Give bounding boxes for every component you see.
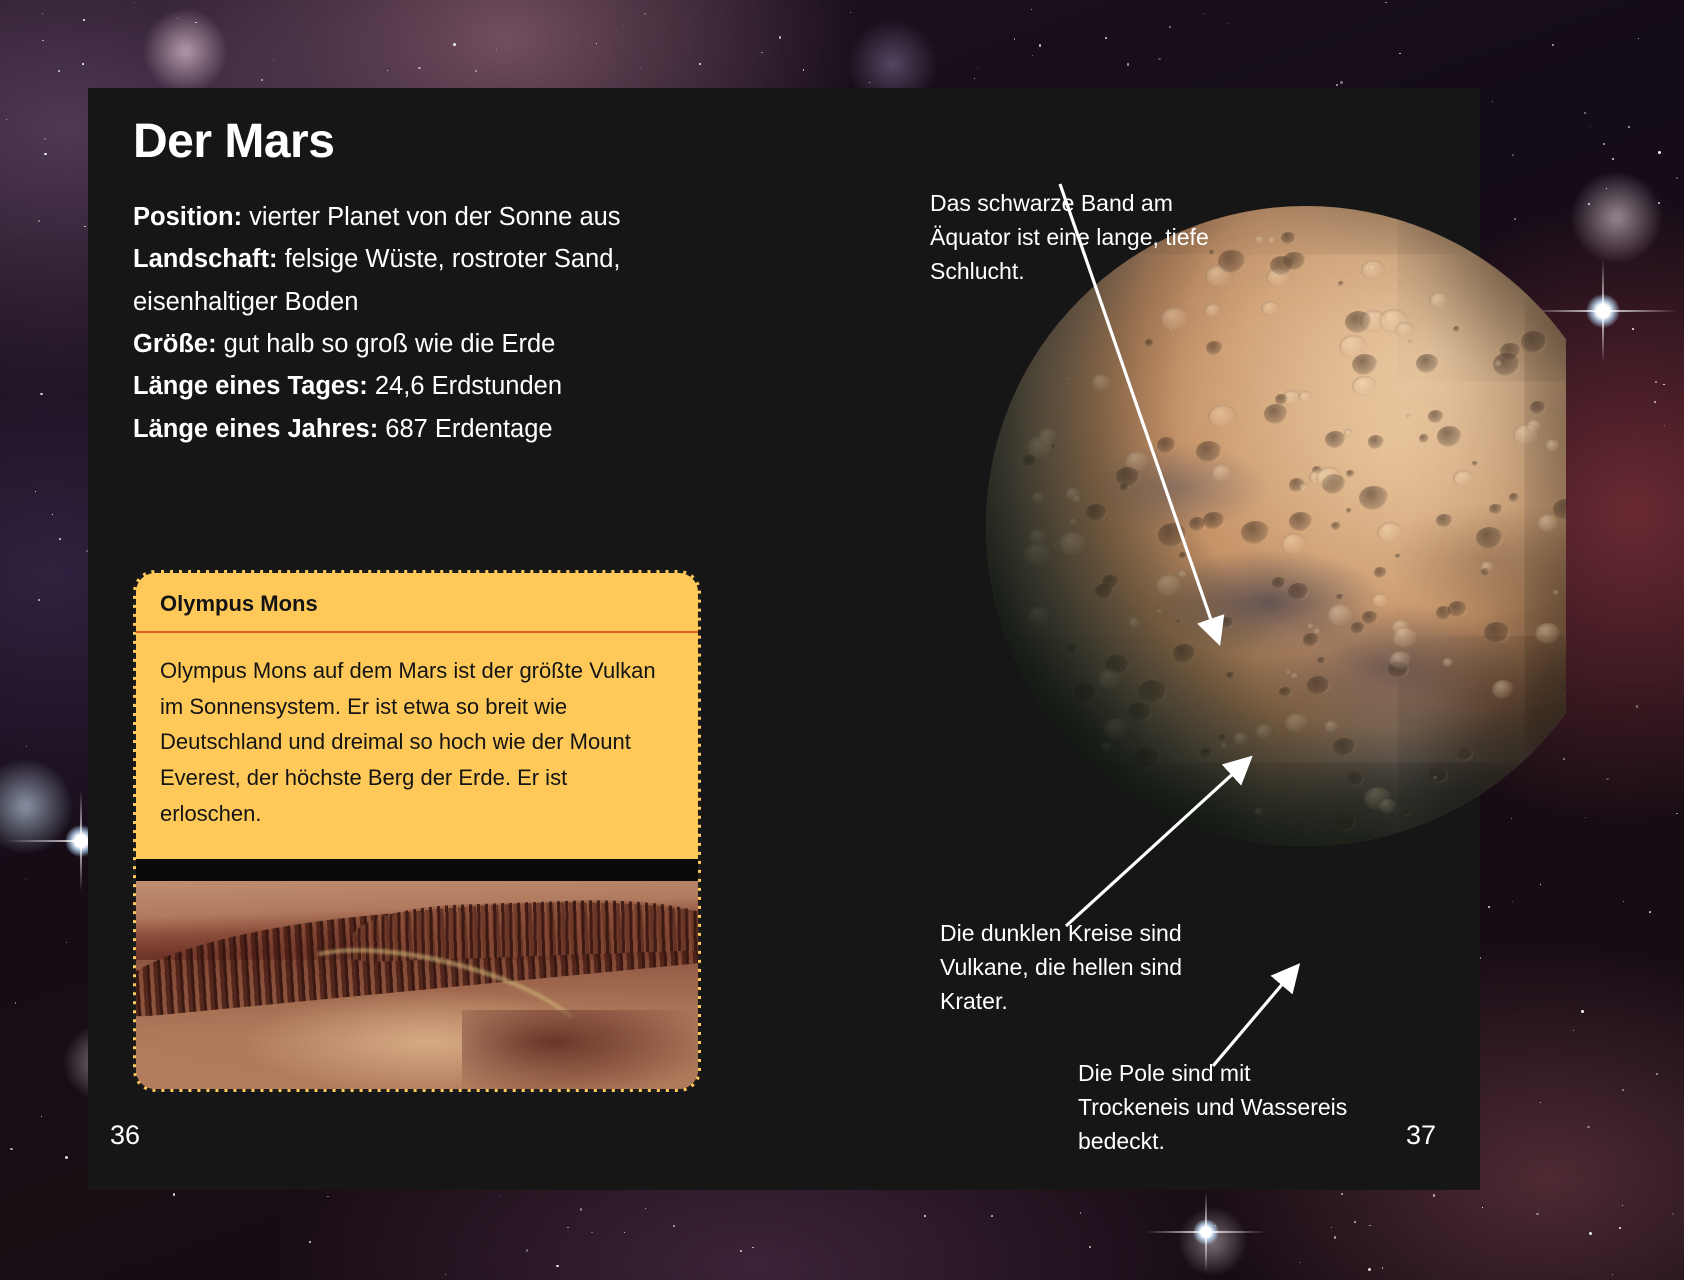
star [591, 1232, 592, 1233]
fact-row: Länge eines Jahres: 687 Erdentage [133, 408, 733, 450]
star [556, 1265, 559, 1268]
mars-limb-shadow [986, 206, 1566, 846]
star [1512, 154, 1514, 156]
star [1331, 1227, 1332, 1228]
callout-divider [136, 859, 698, 881]
star [1341, 1193, 1343, 1195]
fact-value: 24,6 Erdstunden [368, 372, 562, 400]
star [1585, 817, 1586, 818]
star [1590, 126, 1591, 127]
star [1039, 44, 1042, 47]
star [1581, 1010, 1584, 1013]
star [38, 220, 40, 222]
star [761, 52, 762, 53]
star [699, 63, 702, 66]
star [475, 70, 476, 71]
star [779, 36, 782, 39]
star [991, 1215, 993, 1217]
callout-heading: Olympus Mons [136, 573, 698, 633]
fact-row: Größe: gut halb so groß wie die Erde [133, 323, 733, 365]
star [974, 78, 975, 79]
olympus-mons-caldera-image [136, 881, 698, 1089]
star [1433, 1194, 1436, 1197]
star [623, 25, 624, 26]
star [44, 153, 47, 156]
star [1628, 126, 1630, 128]
star [1299, 1262, 1300, 1263]
annotation-poles: Die Pole sind mit Trockeneis und Wassere… [1078, 1056, 1348, 1158]
star [526, 1249, 529, 1252]
star [1654, 401, 1656, 403]
star [1636, 705, 1638, 707]
star [1368, 1268, 1371, 1271]
olympus-mons-callout: Olympus Mons Olympus Mons auf dem Mars i… [133, 570, 701, 1092]
star [1127, 63, 1129, 65]
star [10, 1149, 12, 1151]
star [1676, 177, 1678, 179]
star [1385, 2, 1387, 4]
star [42, 13, 43, 14]
star [1492, 101, 1493, 102]
star [496, 49, 497, 50]
star [977, 67, 978, 68]
star [1622, 1205, 1623, 1206]
star [1606, 188, 1607, 189]
fact-value: gut halb so groß wie die Erde [217, 330, 556, 358]
star [1656, 1073, 1658, 1075]
star [640, 68, 641, 69]
star [1603, 143, 1605, 145]
star [803, 69, 804, 70]
star [673, 1225, 675, 1227]
fact-label: Position: [133, 203, 242, 231]
star [1334, 1236, 1337, 1239]
star [42, 40, 43, 41]
star [1612, 1274, 1613, 1275]
star [38, 599, 40, 601]
star [1482, 1207, 1483, 1208]
star [567, 1227, 569, 1229]
star [177, 18, 178, 19]
page-spread: Der Mars Position: vierter Planet von de… [0, 0, 1684, 1280]
star [1658, 202, 1660, 204]
fact-value: vierter Planet von der Sonne aus [242, 203, 620, 231]
fact-label: Länge eines Tages: [133, 372, 368, 400]
star [1014, 38, 1016, 40]
star [1105, 37, 1107, 39]
star [1382, 1267, 1384, 1269]
callout-body-text: Olympus Mons auf dem Mars ist der größte… [136, 633, 698, 859]
star [453, 43, 456, 46]
star [1623, 901, 1624, 902]
star [6, 119, 7, 120]
star [40, 393, 43, 396]
fact-label: Landschaft: [133, 245, 278, 273]
star [1369, 1225, 1371, 1227]
fact-label: Länge eines Jahres: [133, 415, 378, 443]
star [1203, 13, 1204, 14]
fact-row: Länge eines Tages: 24,6 Erdstunden [133, 365, 733, 407]
page-number-right: 37 [1406, 1120, 1436, 1151]
star [1649, 911, 1651, 913]
star [84, 226, 86, 228]
fact-row: Landschaft: felsige Wüste, rostroter San… [133, 238, 733, 323]
star [596, 43, 597, 44]
star [134, 2, 135, 3]
star [1658, 151, 1661, 154]
left-column: Der Mars Position: vierter Planet von de… [133, 118, 733, 450]
star [1552, 44, 1554, 46]
star [1589, 1232, 1592, 1235]
star [59, 538, 61, 540]
star [500, 1195, 501, 1196]
star [82, 63, 84, 65]
page-title: Der Mars [133, 118, 733, 166]
star [850, 12, 851, 13]
star [580, 1208, 583, 1211]
star [645, 1208, 646, 1209]
star [1536, 1213, 1539, 1216]
star [52, 514, 53, 515]
star [65, 1156, 68, 1159]
star [1622, 1089, 1624, 1091]
star [1587, 1126, 1590, 1129]
star [1032, 55, 1033, 56]
star [924, 1215, 926, 1217]
fact-value: 687 Erdentage [378, 415, 552, 443]
star [1612, 158, 1614, 160]
star [66, 942, 67, 943]
star [740, 1250, 742, 1252]
star [1080, 1212, 1081, 1213]
star [173, 1193, 176, 1196]
star [41, 1116, 42, 1117]
page-number-left: 36 [110, 1120, 140, 1151]
star [327, 1196, 329, 1198]
star [1676, 813, 1678, 815]
star [1588, 203, 1590, 205]
star [44, 138, 46, 140]
star [83, 19, 85, 21]
annotation-canyon: Das schwarze Band am Äquator ist eine la… [930, 186, 1230, 288]
star [58, 70, 59, 71]
star [15, 1002, 16, 1003]
fact-label: Größe: [133, 330, 217, 358]
star [195, 22, 197, 24]
star [1354, 1221, 1356, 1223]
star [1573, 1030, 1574, 1031]
star [1227, 23, 1229, 25]
star [35, 491, 37, 493]
star [1664, 425, 1665, 426]
mars-globe-photo [986, 206, 1566, 846]
star [26, 746, 27, 747]
star [1619, 1227, 1621, 1229]
star [1340, 81, 1343, 84]
star [1584, 112, 1586, 114]
content-panel: Der Mars Position: vierter Planet von de… [88, 88, 1480, 1190]
star [1638, 38, 1639, 39]
caldera-shadow-patch [462, 1010, 698, 1089]
fact-row: Position: vierter Planet von der Sonne a… [133, 196, 733, 238]
star [624, 1232, 626, 1234]
star [1336, 84, 1337, 85]
fact-list: Position: vierter Planet von der Sonne a… [133, 196, 733, 450]
star [445, 1274, 446, 1275]
star [869, 82, 870, 83]
star [1158, 58, 1160, 60]
star [1606, 778, 1608, 780]
star [1031, 9, 1032, 10]
star [752, 1247, 753, 1248]
star [1672, 1213, 1674, 1215]
star [1089, 1246, 1091, 1248]
star [1169, 26, 1171, 28]
star [1399, 53, 1400, 54]
star [644, 13, 646, 15]
annotation-volcanoes-craters: Die dunklen Kreise sind Vulkane, die hel… [940, 916, 1200, 1018]
star [309, 1241, 311, 1243]
